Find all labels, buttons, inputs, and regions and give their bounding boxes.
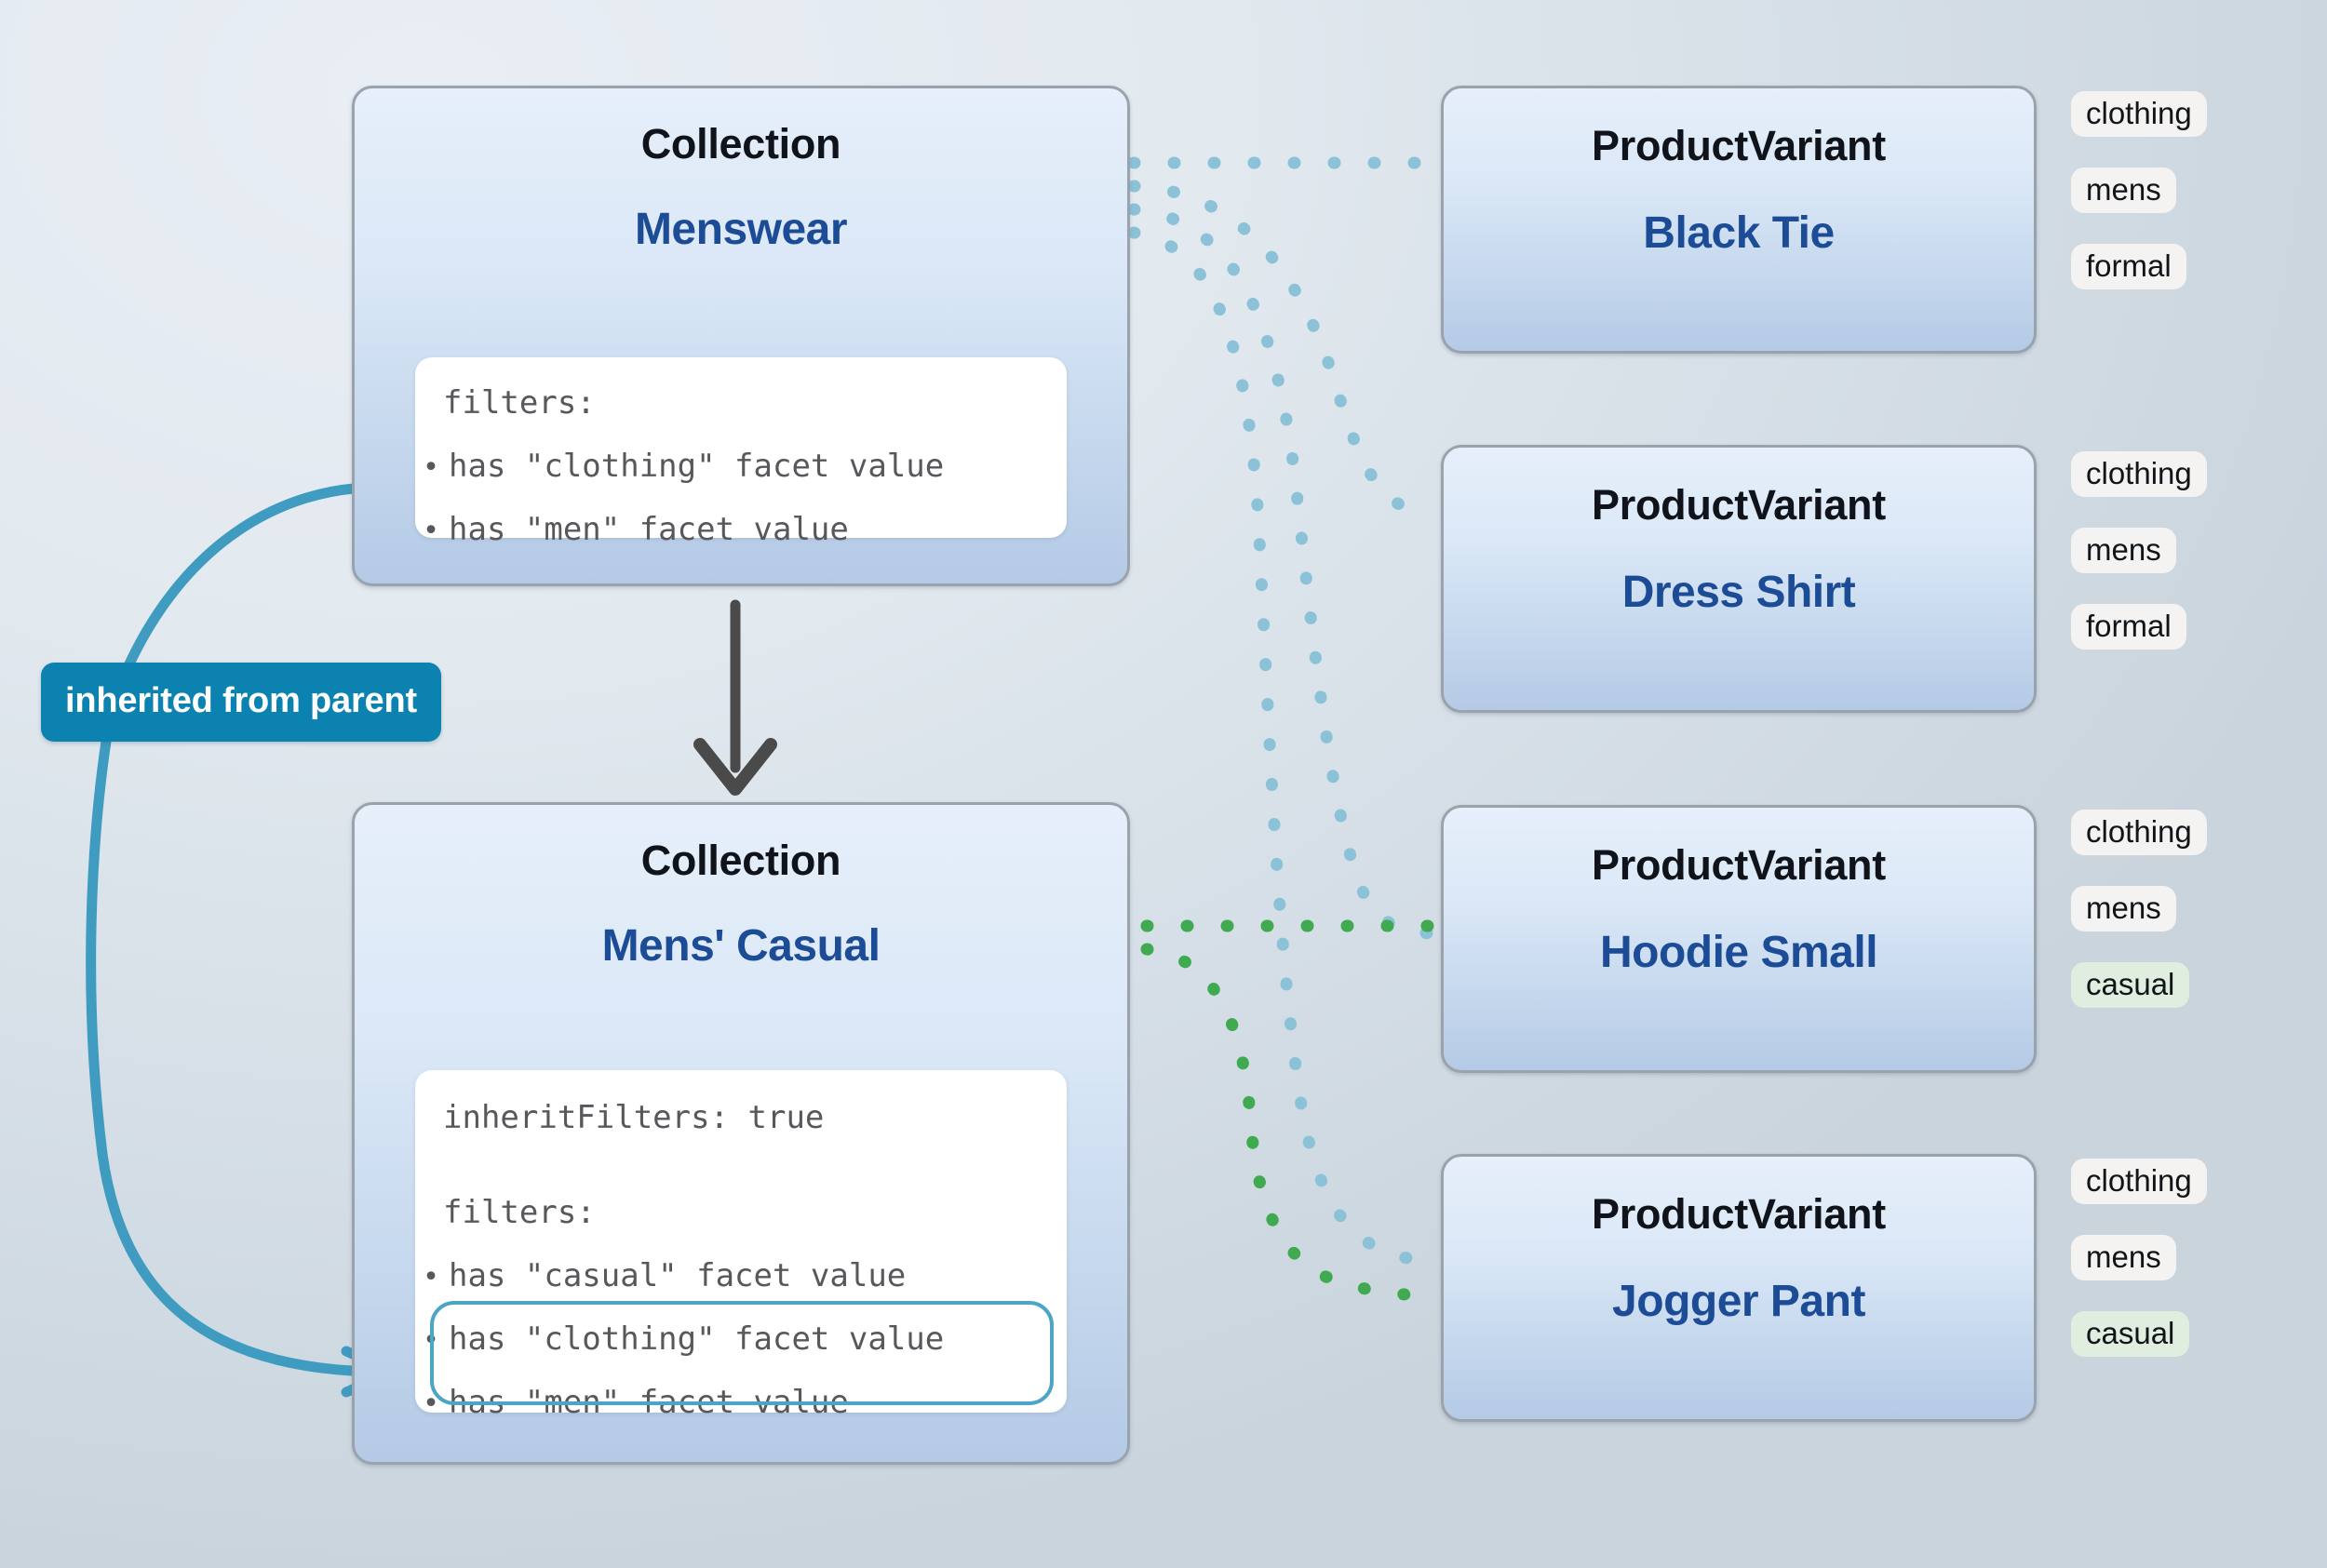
code-spacer bbox=[415, 482, 1067, 514]
product-variant-box-black-tie[interactable]: ProductVariant Black Tie bbox=[1441, 86, 2037, 354]
facet-tag-casual[interactable]: casual bbox=[2071, 962, 2189, 1008]
variant-name-dress-shirt: Dress Shirt bbox=[1444, 567, 2034, 618]
wire-menswear-to-dress-shirt bbox=[1134, 186, 1433, 517]
product-variant-box-jogger-pant[interactable]: ProductVariant Jogger Pant bbox=[1441, 1154, 2037, 1422]
facet-tag-clothing[interactable]: clothing bbox=[2071, 1159, 2207, 1204]
code-spacer bbox=[415, 419, 1067, 450]
facet-tag-mens[interactable]: mens bbox=[2071, 528, 2176, 573]
product-variant-box-hoodie-small[interactable]: ProductVariant Hoodie Small bbox=[1441, 805, 2037, 1073]
inherited-from-parent-badge: inherited from parent bbox=[41, 663, 441, 742]
variant-name-jogger-pant: Jogger Pant bbox=[1444, 1276, 2034, 1327]
inheritance-arrow bbox=[700, 605, 771, 789]
facet-tag-clothing[interactable]: clothing bbox=[2071, 451, 2207, 497]
inherited-from-parent-curve bbox=[91, 488, 385, 1372]
facet-tag-formal[interactable]: formal bbox=[2071, 244, 2186, 289]
code-spacer bbox=[415, 1133, 1067, 1165]
code-bullet: has "clothing" facet value bbox=[415, 450, 1067, 482]
diagram-canvas: Collection Menswear filters: has "clothi… bbox=[0, 0, 2327, 1568]
code-bullet-inherited: has "men" facet value bbox=[415, 1387, 1067, 1418]
menswear-filters-panel: filters: has "clothing" facet value has … bbox=[415, 357, 1067, 538]
code-spacer bbox=[415, 1228, 1067, 1260]
product-variant-box-dress-shirt[interactable]: ProductVariant Dress Shirt bbox=[1441, 445, 2037, 713]
variant-type-label: ProductVariant bbox=[1444, 481, 2034, 529]
code-bullet-inherited: has "clothing" facet value bbox=[415, 1323, 1067, 1355]
variant-type-label: ProductVariant bbox=[1444, 841, 2034, 890]
code-bullet: has "men" facet value bbox=[415, 514, 1067, 545]
code-line: filters: bbox=[415, 387, 1067, 419]
facet-tag-mens[interactable]: mens bbox=[2071, 168, 2176, 213]
code-line: inheritFilters: true bbox=[415, 1102, 1067, 1133]
variant-name-black-tie: Black Tie bbox=[1444, 208, 2034, 259]
collection-name-menswear: Menswear bbox=[355, 204, 1127, 255]
wire-menswear-to-hoodie-small bbox=[1134, 209, 1433, 933]
facet-tag-clothing[interactable]: clothing bbox=[2071, 810, 2207, 855]
facet-tag-formal[interactable]: formal bbox=[2071, 604, 2186, 650]
mens-casual-filters-panel: inheritFilters: true filters: has "casua… bbox=[415, 1070, 1067, 1413]
collection-name-mens-casual: Mens' Casual bbox=[355, 920, 1127, 972]
code-spacer bbox=[415, 1355, 1067, 1387]
variant-type-label: ProductVariant bbox=[1444, 122, 2034, 170]
facet-tag-mens[interactable]: mens bbox=[2071, 1235, 2176, 1280]
facet-tag-mens[interactable]: mens bbox=[2071, 886, 2176, 931]
code-bullet: has "casual" facet value bbox=[415, 1260, 1067, 1292]
code-spacer bbox=[415, 1165, 1067, 1197]
code-line: filters: bbox=[415, 1197, 1067, 1228]
collection-type-label: Collection bbox=[355, 120, 1127, 168]
variant-name-hoodie-small: Hoodie Small bbox=[1444, 927, 2034, 978]
collection-type-label: Collection bbox=[355, 837, 1127, 885]
facet-tag-clothing[interactable]: clothing bbox=[2071, 91, 2207, 137]
code-spacer bbox=[415, 1292, 1067, 1323]
facet-tag-casual[interactable]: casual bbox=[2071, 1311, 2189, 1357]
wire-menswear-to-jogger-pant bbox=[1134, 233, 1433, 1262]
variant-type-label: ProductVariant bbox=[1444, 1190, 2034, 1239]
wire-mens-casual-to-jogger-pant bbox=[1147, 949, 1433, 1295]
